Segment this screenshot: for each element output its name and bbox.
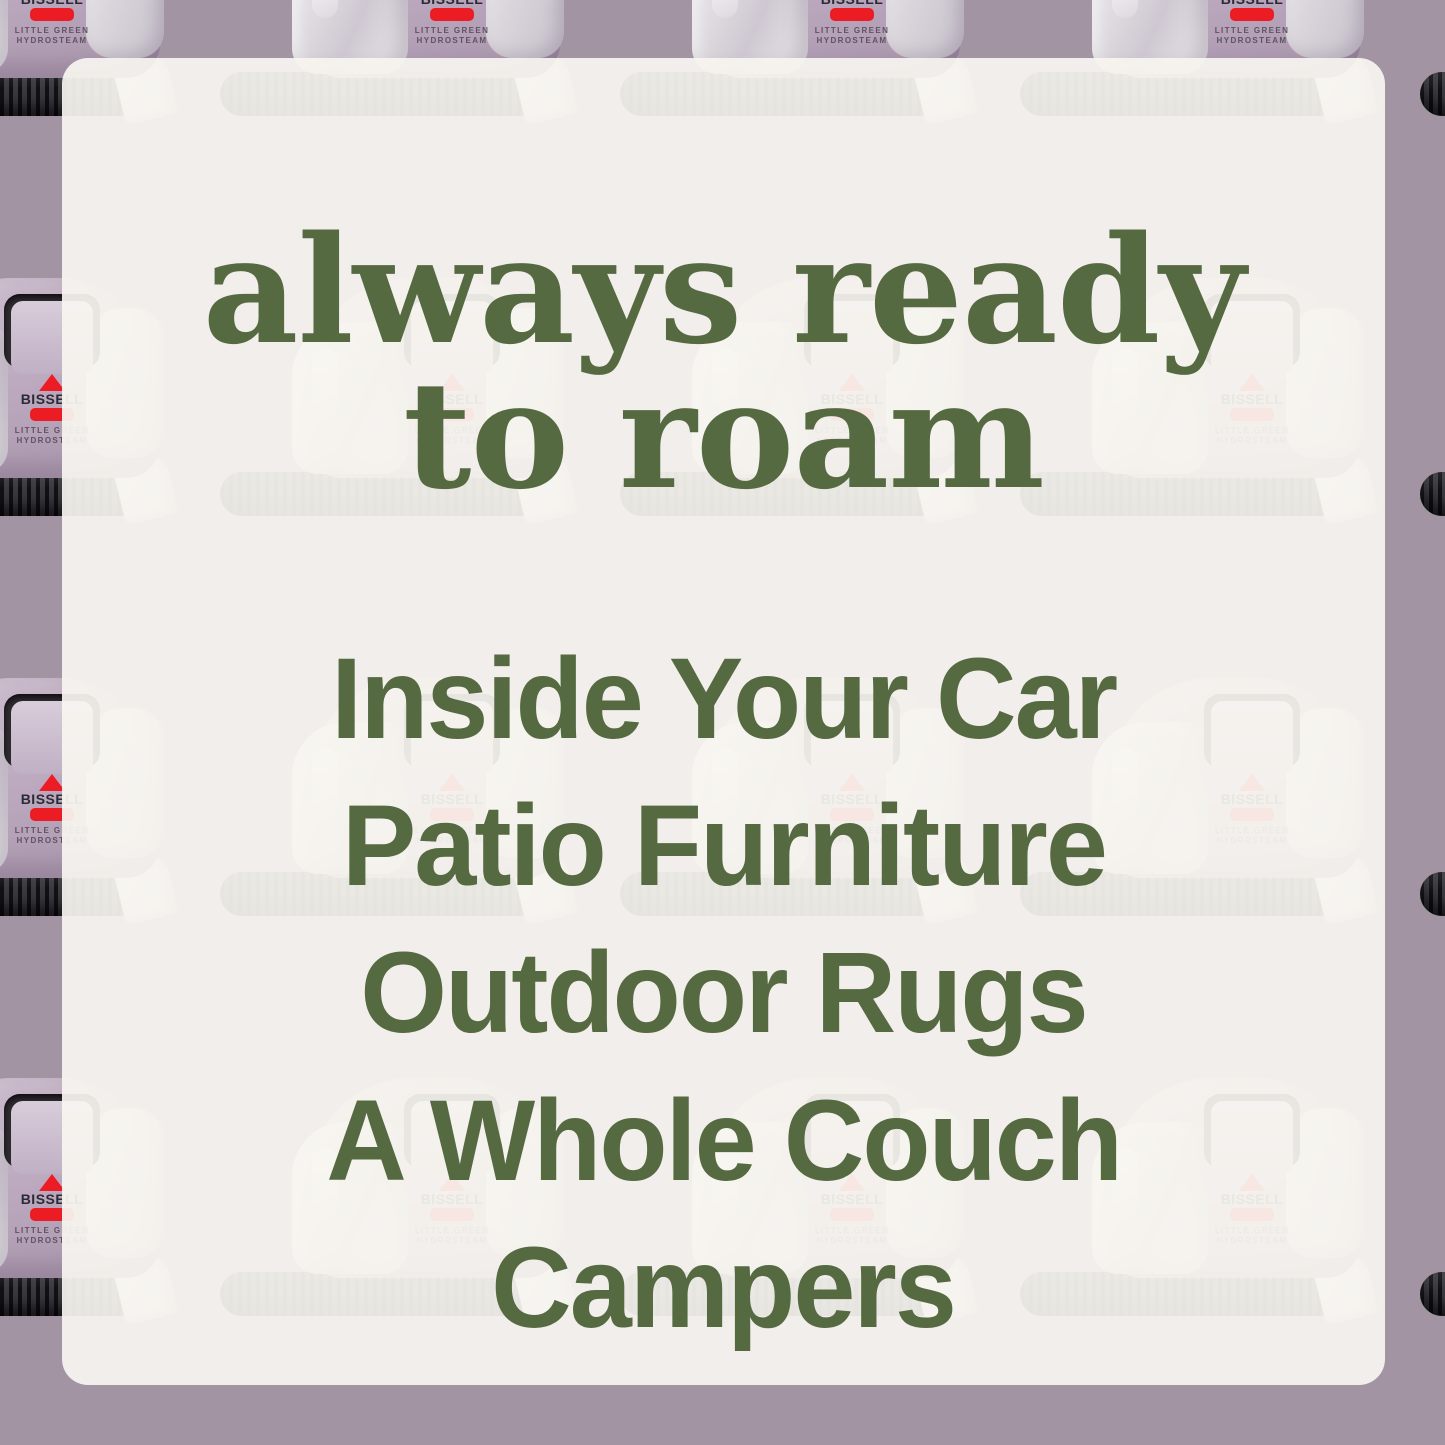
bissell-logo: BISSELLLITTLE GREENHYDROSTEAM [1214, 0, 1290, 46]
bissell-wordmark: BISSELL [414, 0, 490, 6]
list-item: Inside Your Car [331, 626, 1116, 773]
marketing-graphic: BISSELLLITTLE GREENHYDROSTEAMBISSELLLITT… [0, 0, 1445, 1445]
bissell-bar-icon [30, 8, 74, 21]
bissell-logo: BISSELLLITTLE GREENHYDROSTEAM [14, 0, 90, 46]
list-item: A Whole Couch [326, 1068, 1121, 1215]
list-item: Campers [492, 1215, 956, 1362]
bissell-wordmark: BISSELL [814, 0, 890, 6]
use-case-list: Inside Your Car Patio Furniture Outdoor … [62, 626, 1385, 1362]
bissell-bar-icon [430, 8, 474, 21]
list-item: Outdoor Rugs [360, 920, 1086, 1067]
product-model-label: LITTLE GREENHYDROSTEAM [14, 26, 90, 46]
product-model-label: LITTLE GREENHYDROSTEAM [1214, 26, 1290, 46]
bissell-wordmark: BISSELL [1214, 0, 1290, 6]
list-item: Patio Furniture [341, 773, 1105, 920]
product-model-label: LITTLE GREENHYDROSTEAM [414, 26, 490, 46]
content-area: always ready to roam Inside Your Car Pat… [62, 58, 1385, 1385]
bissell-bar-icon [830, 8, 874, 21]
unit-side-panel [886, 0, 964, 58]
unit-side-panel [86, 0, 164, 58]
bissell-bar-icon [1230, 8, 1274, 21]
unit-side-panel [1286, 0, 1364, 58]
headline: always ready to roam [203, 218, 1245, 508]
bissell-logo: BISSELLLITTLE GREENHYDROSTEAM [814, 0, 890, 46]
bissell-wordmark: BISSELL [14, 0, 90, 6]
product-model-label: LITTLE GREENHYDROSTEAM [814, 26, 890, 46]
headline-line-2: to roam [203, 363, 1245, 508]
unit-side-panel [486, 0, 564, 58]
bissell-logo: BISSELLLITTLE GREENHYDROSTEAM [414, 0, 490, 46]
